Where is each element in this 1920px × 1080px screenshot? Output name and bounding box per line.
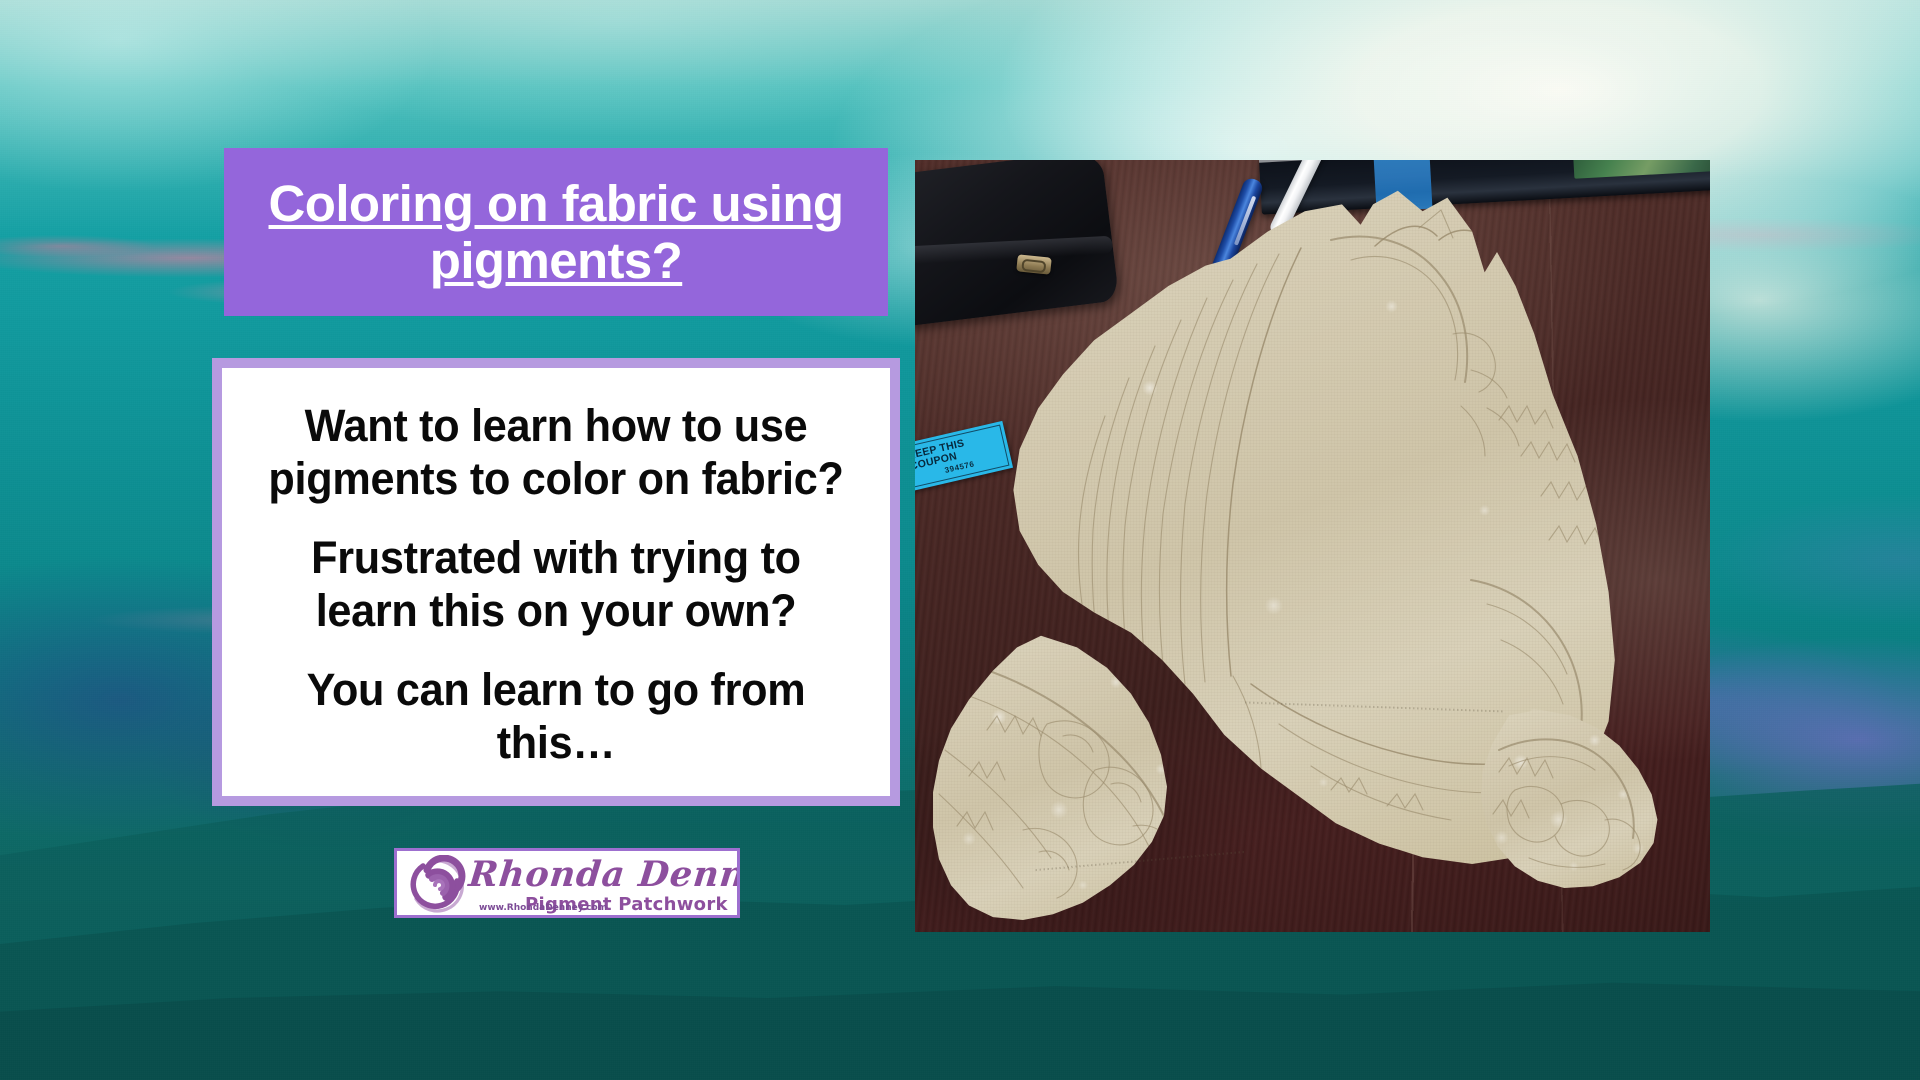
spiral-swirl-icon <box>397 851 475 915</box>
pouch-fold-highlight <box>915 236 1113 266</box>
brand-logo-card[interactable]: Rhonda Denney Pigment Patchwork www.Rhon… <box>394 848 740 918</box>
pouch-zipper-pull <box>1016 254 1052 274</box>
page-title: Coloring on fabric using pigments? <box>240 175 872 289</box>
copy-card: Want to learn how to use pigments to col… <box>212 358 900 806</box>
copy-paragraph-3: You can learn to go from this… <box>256 663 855 769</box>
title-banner: Coloring on fabric using pigments? <box>224 148 888 316</box>
brand-name: Rhonda Denney <box>467 854 740 895</box>
fabric-lion-photo: KEEP THIS COUPON 394576 <box>915 160 1710 932</box>
brand-text-group: Rhonda Denney Pigment Patchwork www.Rhon… <box>475 851 737 915</box>
tablet-screen-artwork <box>1573 160 1710 179</box>
brand-url: www.RhondaDenney.com <box>479 903 607 913</box>
copy-paragraph-1: Want to learn how to use pigments to col… <box>256 399 855 505</box>
copy-paragraph-2: Frustrated with trying to learn this on … <box>256 531 855 637</box>
